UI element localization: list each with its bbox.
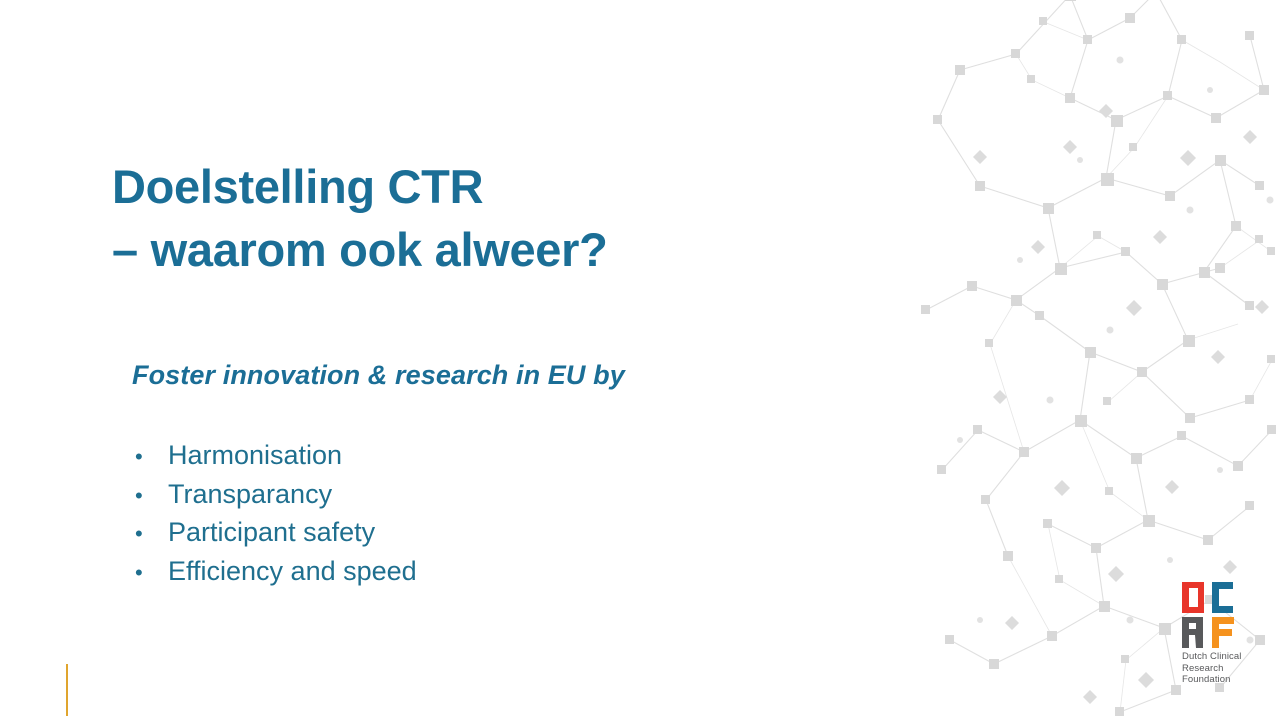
logo-caption-line-3: Foundation xyxy=(1182,674,1260,686)
logo-letter-c xyxy=(1212,582,1233,613)
dcrf-logo: Dutch Clinical Research Foundation xyxy=(1182,582,1260,686)
logo-caption-line-2: Research xyxy=(1182,663,1260,675)
logo-letter-r xyxy=(1182,617,1203,648)
list-item-label: Transparancy xyxy=(168,475,332,514)
list-item: • Participant safety xyxy=(132,513,417,552)
list-item-label: Harmonisation xyxy=(168,436,342,475)
dcrf-logo-mark xyxy=(1182,582,1244,648)
list-item: • Harmonisation xyxy=(132,436,417,475)
bullet-list: • Harmonisation • Transparancy • Partici… xyxy=(132,436,417,590)
list-item: • Efficiency and speed xyxy=(132,552,417,591)
accent-rule xyxy=(66,664,68,716)
subtitle: Foster innovation & research in EU by xyxy=(132,360,625,391)
title-line-1: Doelstelling CTR xyxy=(112,155,872,218)
page-title: Doelstelling CTR – waarom ook alweer? xyxy=(112,155,872,281)
bullet-icon: • xyxy=(132,477,168,516)
bullet-icon: • xyxy=(132,515,168,554)
list-item-label: Efficiency and speed xyxy=(168,552,417,591)
list-item: • Transparancy xyxy=(132,475,417,514)
bullet-icon: • xyxy=(132,438,168,477)
logo-caption-line-1: Dutch Clinical xyxy=(1182,651,1260,663)
logo-letter-f xyxy=(1212,617,1234,648)
title-line-2: – waarom ook alweer? xyxy=(112,218,872,281)
logo-letter-d xyxy=(1182,582,1204,613)
dcrf-logo-caption: Dutch Clinical Research Foundation xyxy=(1182,651,1260,686)
list-item-label: Participant safety xyxy=(168,513,375,552)
bullet-icon: • xyxy=(132,554,168,593)
slide: Doelstelling CTR – waarom ook alweer? Fo… xyxy=(0,0,1280,720)
